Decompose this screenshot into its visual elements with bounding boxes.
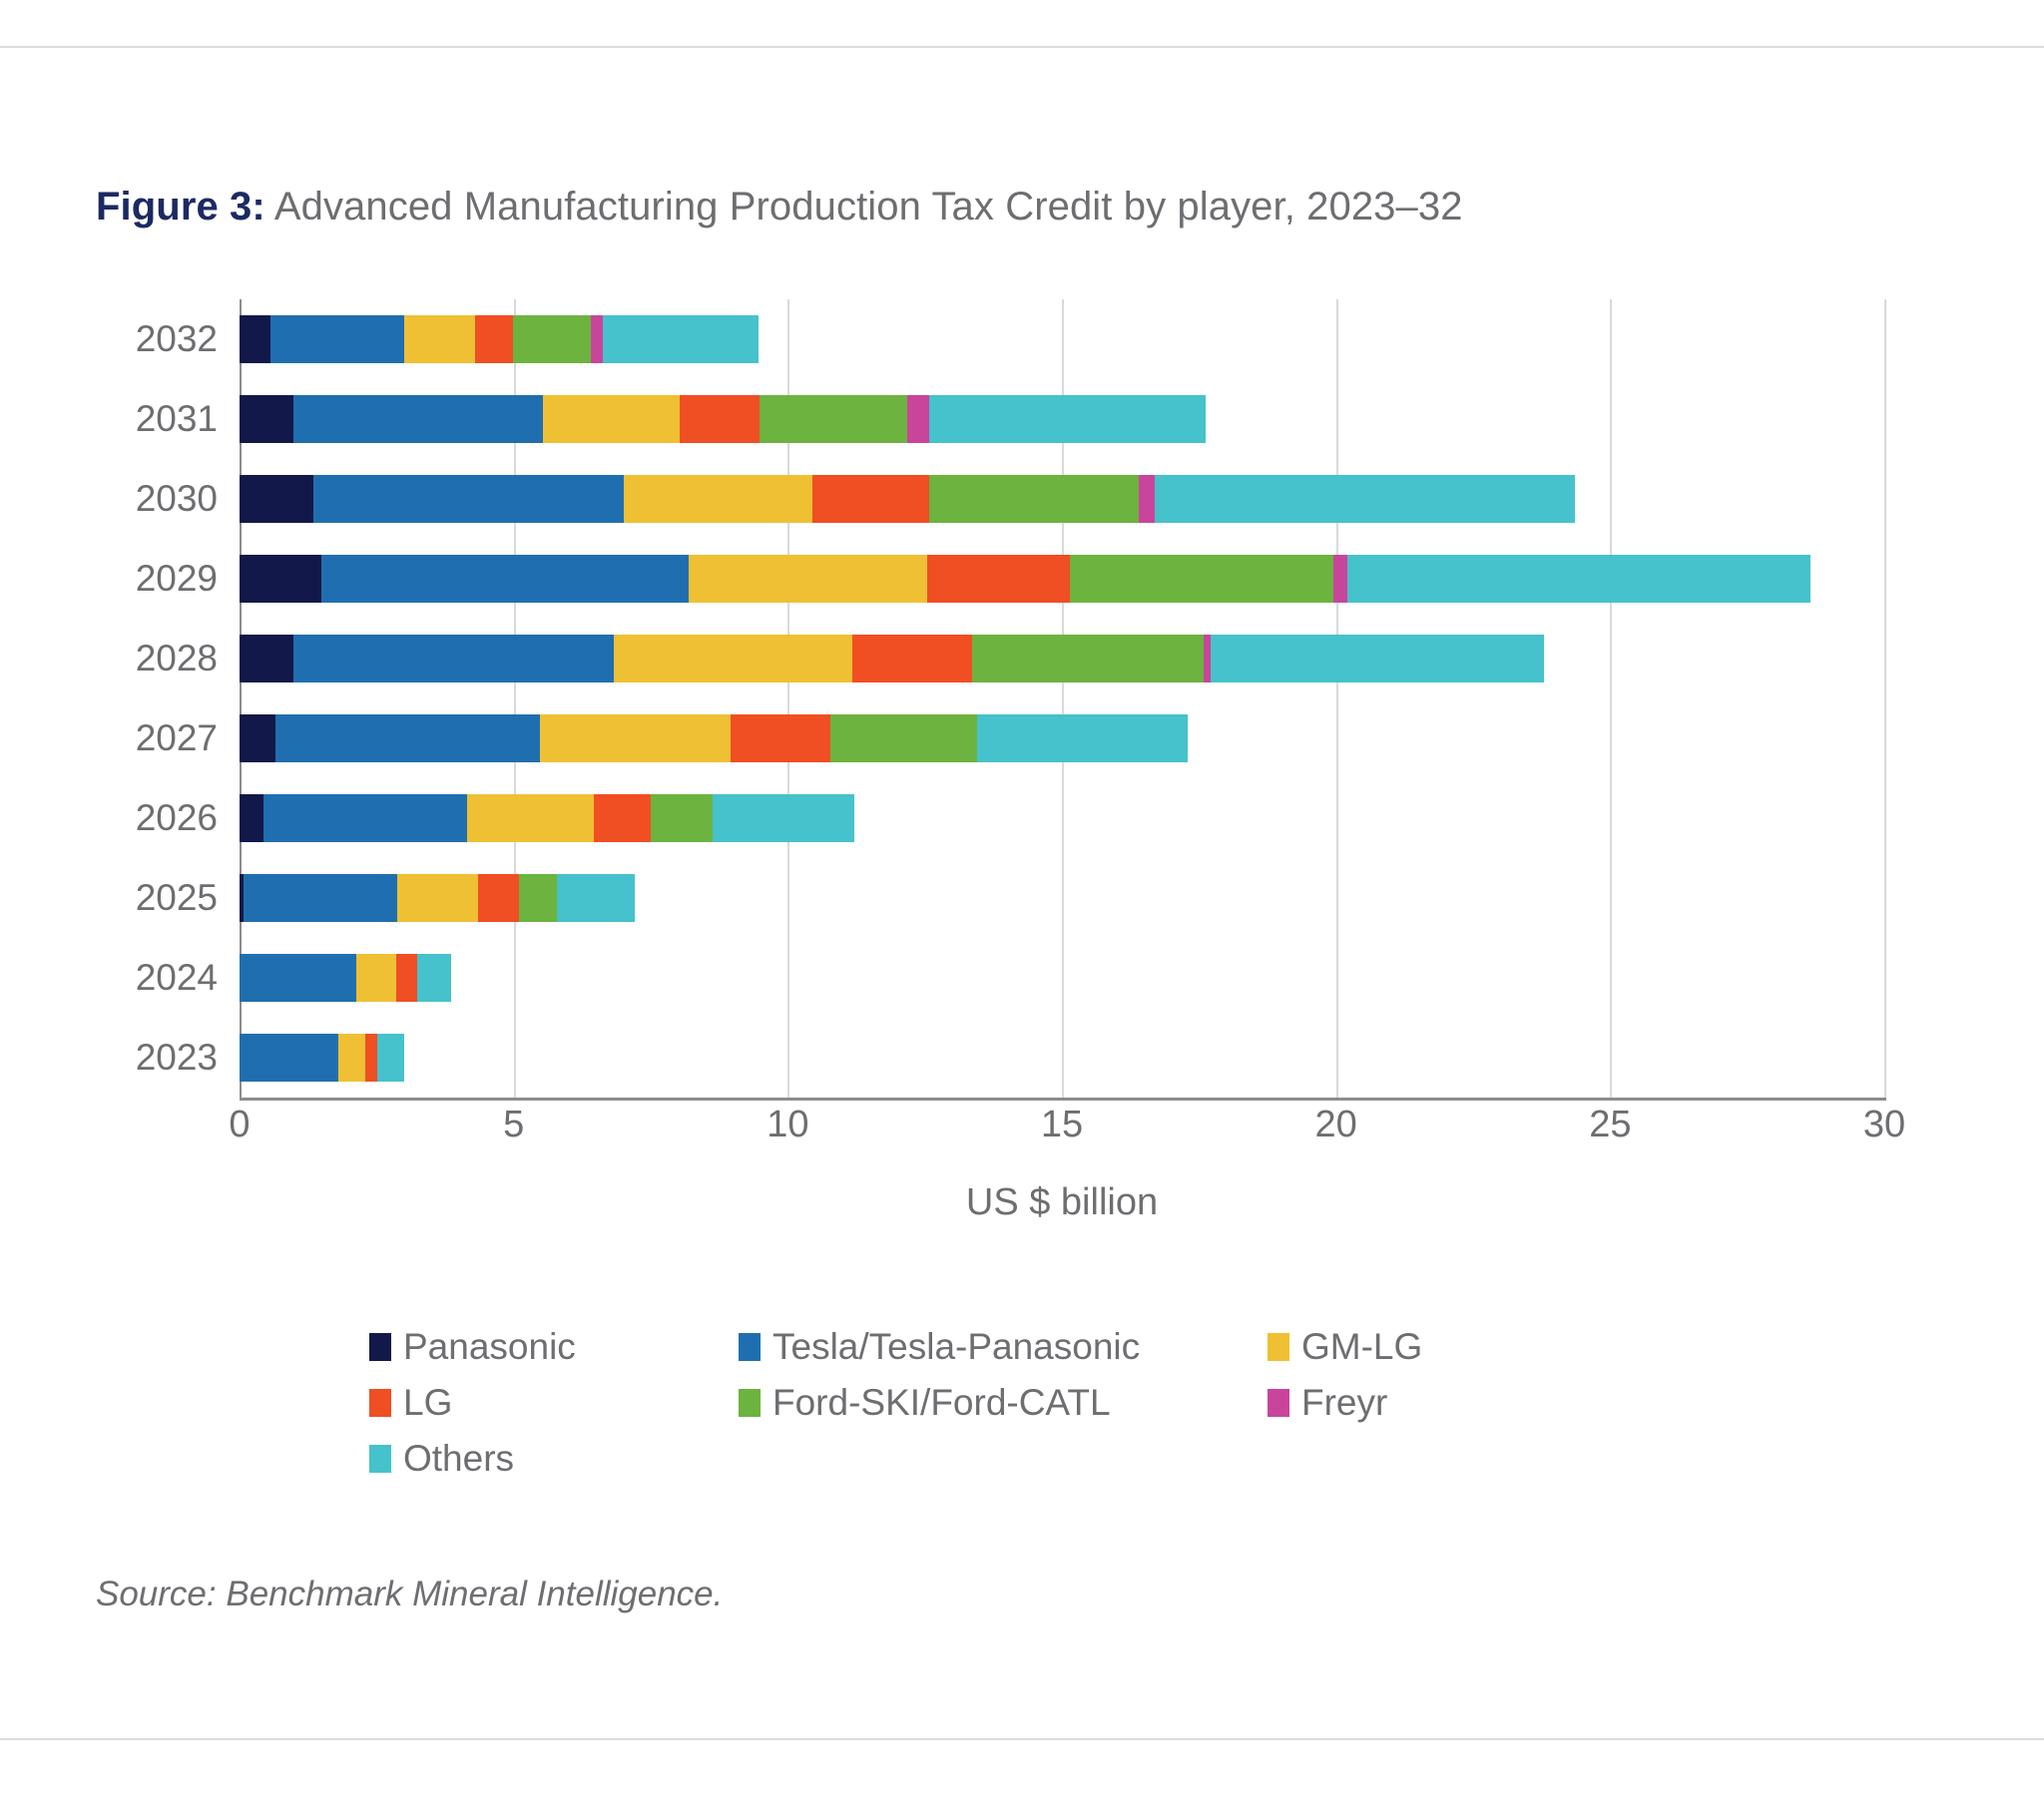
gridline	[1336, 299, 1338, 1098]
legend-label: GM-LG	[1301, 1327, 1422, 1367]
x-tick-label: 20	[1315, 1104, 1357, 1146]
bar-segment[interactable]	[377, 1034, 403, 1082]
bar-2025[interactable]	[240, 874, 635, 922]
bar-segment[interactable]	[293, 635, 614, 682]
bar-segment[interactable]	[240, 395, 293, 443]
y-axis-label-2031: 2031	[136, 398, 218, 440]
gridline	[1884, 299, 1886, 1098]
figure-number: Figure 3:	[96, 185, 265, 228]
bar-segment[interactable]	[475, 315, 513, 363]
bar-2027[interactable]	[240, 714, 1188, 762]
bar-segment[interactable]	[240, 714, 275, 762]
bar-segment[interactable]	[240, 794, 263, 842]
bar-segment[interactable]	[365, 1034, 378, 1082]
bar-segment[interactable]	[396, 954, 417, 1002]
bar-segment[interactable]	[543, 395, 680, 443]
bar-segment[interactable]	[1204, 635, 1212, 682]
bar-segment[interactable]	[244, 874, 397, 922]
bar-segment[interactable]	[907, 395, 928, 443]
bar-segment[interactable]	[321, 555, 689, 603]
legend-swatch-icon	[739, 1389, 761, 1417]
legend-label: Freyr	[1301, 1383, 1387, 1423]
bar-segment[interactable]	[263, 794, 467, 842]
bar-segment[interactable]	[467, 794, 594, 842]
top-divider	[0, 46, 2044, 48]
bar-segment[interactable]	[240, 315, 270, 363]
y-axis-label-2028: 2028	[136, 638, 218, 679]
bar-segment[interactable]	[830, 714, 977, 762]
bar-segment[interactable]	[478, 874, 519, 922]
legend-label: Panasonic	[403, 1327, 576, 1367]
figure-page: Figure 3: Advanced Manufacturing Product…	[0, 0, 2044, 1806]
legend-item[interactable]: Others	[369, 1439, 514, 1479]
gridline	[1610, 299, 1612, 1098]
legend-swatch-icon	[369, 1389, 391, 1417]
x-axis-title: US $ billion	[240, 1181, 1884, 1224]
bar-segment[interactable]	[1070, 555, 1333, 603]
stacked-bar-chart: 2032203120302029202820272026202520242023…	[96, 299, 1952, 1118]
x-tick-label: 15	[1041, 1104, 1083, 1146]
chart-legend: PanasonicTesla/Tesla-PanasonicGM-LGLGFor…	[369, 1327, 1866, 1497]
y-axis-label-2029: 2029	[136, 558, 218, 600]
bar-segment[interactable]	[313, 475, 623, 523]
bar-segment[interactable]	[977, 714, 1188, 762]
legend-swatch-icon	[1268, 1333, 1289, 1361]
x-tick-label: 10	[766, 1104, 808, 1146]
bar-2024[interactable]	[240, 954, 451, 1002]
legend-swatch-icon	[369, 1333, 391, 1361]
bar-segment[interactable]	[927, 555, 1070, 603]
figure-title-text: Advanced Manufacturing Production Tax Cr…	[265, 185, 1463, 228]
bar-segment[interactable]	[591, 315, 604, 363]
legend-item[interactable]: GM-LG	[1268, 1327, 1422, 1367]
y-axis-label-2023: 2023	[136, 1037, 218, 1079]
legend-swatch-icon	[369, 1445, 391, 1473]
legend-label: LG	[403, 1383, 452, 1423]
bar-segment[interactable]	[1155, 475, 1574, 523]
legend-label: Others	[403, 1439, 514, 1479]
plot-area	[240, 299, 1884, 1098]
legend-label: Tesla/Tesla-Panasonic	[772, 1327, 1140, 1367]
x-tick-label: 25	[1589, 1104, 1631, 1146]
y-axis-label-2024: 2024	[136, 957, 218, 999]
legend-swatch-icon	[739, 1333, 761, 1361]
bar-segment[interactable]	[760, 395, 907, 443]
bar-segment[interactable]	[397, 874, 478, 922]
bar-segment[interactable]	[1333, 555, 1347, 603]
bar-segment[interactable]	[240, 475, 313, 523]
bottom-divider	[0, 1738, 2044, 1740]
y-axis-label-2030: 2030	[136, 478, 218, 520]
legend-item[interactable]: Freyr	[1268, 1383, 1387, 1423]
bar-segment[interactable]	[240, 1034, 338, 1082]
bar-segment[interactable]	[731, 714, 830, 762]
bar-segment[interactable]	[240, 555, 321, 603]
bar-2026[interactable]	[240, 794, 854, 842]
bar-2029[interactable]	[240, 555, 1810, 603]
bar-segment[interactable]	[240, 635, 293, 682]
bar-segment[interactable]	[812, 475, 928, 523]
bar-segment[interactable]	[1347, 555, 1810, 603]
legend-item[interactable]: LG	[369, 1383, 452, 1423]
bar-segment[interactable]	[404, 315, 474, 363]
bar-segment[interactable]	[356, 954, 396, 1002]
bar-segment[interactable]	[513, 315, 590, 363]
bar-segment[interactable]	[929, 395, 1206, 443]
bar-segment[interactable]	[852, 635, 973, 682]
bar-segment[interactable]	[270, 315, 405, 363]
legend-item[interactable]: Panasonic	[369, 1327, 576, 1367]
x-tick-label: 5	[503, 1104, 524, 1146]
bar-segment[interactable]	[338, 1034, 365, 1082]
bar-2031[interactable]	[240, 395, 1206, 443]
bar-segment[interactable]	[519, 874, 556, 922]
bar-segment[interactable]	[540, 714, 731, 762]
y-axis-label-2032: 2032	[136, 318, 218, 360]
y-axis-labels: 2032203120302029202820272026202520242023	[96, 299, 236, 1098]
bar-segment[interactable]	[624, 475, 813, 523]
x-axis-line	[240, 1098, 1886, 1101]
bar-2032[interactable]	[240, 315, 759, 363]
x-axis-ticks: 051015202530	[240, 1104, 1884, 1163]
legend-item[interactable]: Tesla/Tesla-Panasonic	[739, 1327, 1140, 1367]
bar-segment[interactable]	[603, 315, 758, 363]
bar-segment[interactable]	[1139, 475, 1155, 523]
figure-title: Figure 3: Advanced Manufacturing Product…	[96, 182, 1463, 231]
bar-segment[interactable]	[594, 794, 651, 842]
bar-segment[interactable]	[929, 475, 1139, 523]
bar-segment[interactable]	[417, 954, 451, 1002]
source-note: Source: Benchmark Mineral Intelligence.	[96, 1575, 723, 1614]
x-tick-label: 0	[229, 1104, 250, 1146]
bar-segment[interactable]	[275, 714, 540, 762]
legend-item[interactable]: Ford-SKI/Ford-CATL	[739, 1383, 1111, 1423]
bar-segment[interactable]	[680, 395, 760, 443]
bar-segment[interactable]	[557, 874, 636, 922]
bar-2028[interactable]	[240, 635, 1544, 682]
bar-2030[interactable]	[240, 475, 1575, 523]
legend-label: Ford-SKI/Ford-CATL	[772, 1383, 1111, 1423]
bar-segment[interactable]	[614, 635, 851, 682]
bar-segment[interactable]	[293, 395, 542, 443]
x-tick-label: 30	[1863, 1104, 1905, 1146]
bar-segment[interactable]	[972, 635, 1203, 682]
bar-segment[interactable]	[689, 555, 927, 603]
bar-2023[interactable]	[240, 1034, 404, 1082]
bar-segment[interactable]	[713, 794, 854, 842]
y-axis-label-2027: 2027	[136, 717, 218, 759]
y-axis-label-2026: 2026	[136, 797, 218, 839]
legend-swatch-icon	[1268, 1389, 1289, 1417]
bar-segment[interactable]	[1211, 635, 1544, 682]
bar-segment[interactable]	[651, 794, 713, 842]
y-axis-label-2025: 2025	[136, 877, 218, 919]
bar-segment[interactable]	[240, 954, 356, 1002]
